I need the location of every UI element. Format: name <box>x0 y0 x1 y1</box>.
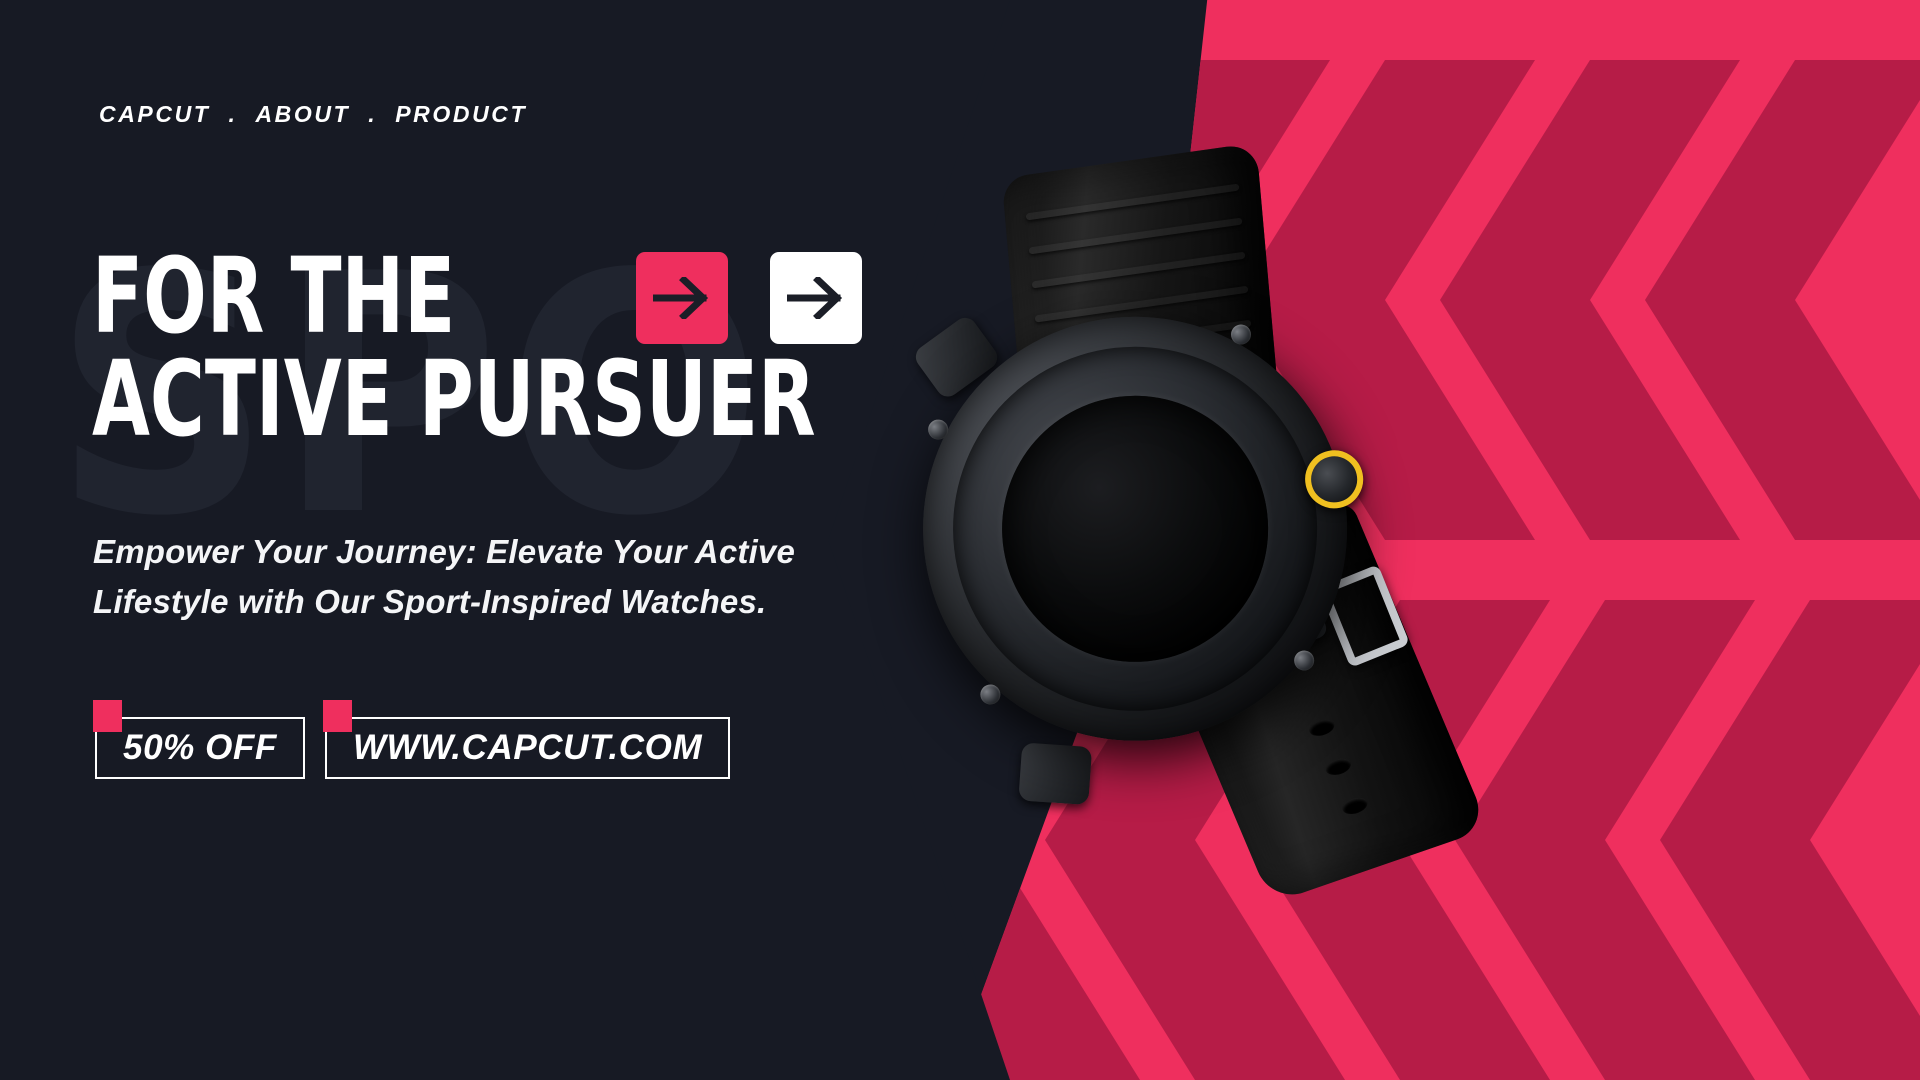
cta-badge-group: 50% OFF WWW.CAPCUT.COM <box>95 717 730 779</box>
headline-line-1: FOR THE <box>92 248 455 345</box>
website-badge-box: WWW.CAPCUT.COM <box>325 717 730 779</box>
case-screw <box>979 683 1003 707</box>
nav-item-capcut[interactable]: CAPCUT <box>95 101 214 128</box>
subheading-paragraph: Empower Your Journey: Elevate Your Activ… <box>93 527 823 627</box>
badge-corner-accent <box>93 700 122 732</box>
watch-dial-screen <box>977 371 1293 687</box>
arrow-right-icon <box>653 277 711 319</box>
discount-badge-label: 50% OFF <box>123 728 277 768</box>
website-badge[interactable]: WWW.CAPCUT.COM <box>325 717 730 779</box>
discount-badge[interactable]: 50% OFF <box>95 717 305 779</box>
arrow-button-group <box>636 252 862 344</box>
badge-corner-accent <box>323 700 352 732</box>
top-navigation: CAPCUT . ABOUT . PRODUCT <box>95 101 531 128</box>
banner-stage: SPO <box>0 0 1920 1080</box>
headline-block: FOR THE ACTIVE PURSUER <box>92 248 912 447</box>
nav-item-about[interactable]: ABOUT <box>251 101 354 128</box>
website-badge-label: WWW.CAPCUT.COM <box>353 728 702 768</box>
discount-badge-box: 50% OFF <box>95 717 305 779</box>
headline-line-2: ACTIVE PURSUER <box>92 351 748 448</box>
arrow-right-button-primary[interactable] <box>636 252 728 344</box>
headline-row-1: FOR THE <box>92 248 912 345</box>
arrow-right-icon <box>787 277 845 319</box>
nav-separator: . <box>214 101 251 128</box>
watch-lug-bottom <box>1018 742 1092 805</box>
nav-item-product[interactable]: PRODUCT <box>391 101 531 128</box>
subheading-line-2: Lifestyle with Our Sport-Inspired Watche… <box>93 577 823 627</box>
subheading-line-1: Empower Your Journey: Elevate Your Activ… <box>93 527 823 577</box>
case-screw <box>926 418 950 442</box>
nav-separator: . <box>354 101 391 128</box>
arrow-right-button-secondary[interactable] <box>770 252 862 344</box>
